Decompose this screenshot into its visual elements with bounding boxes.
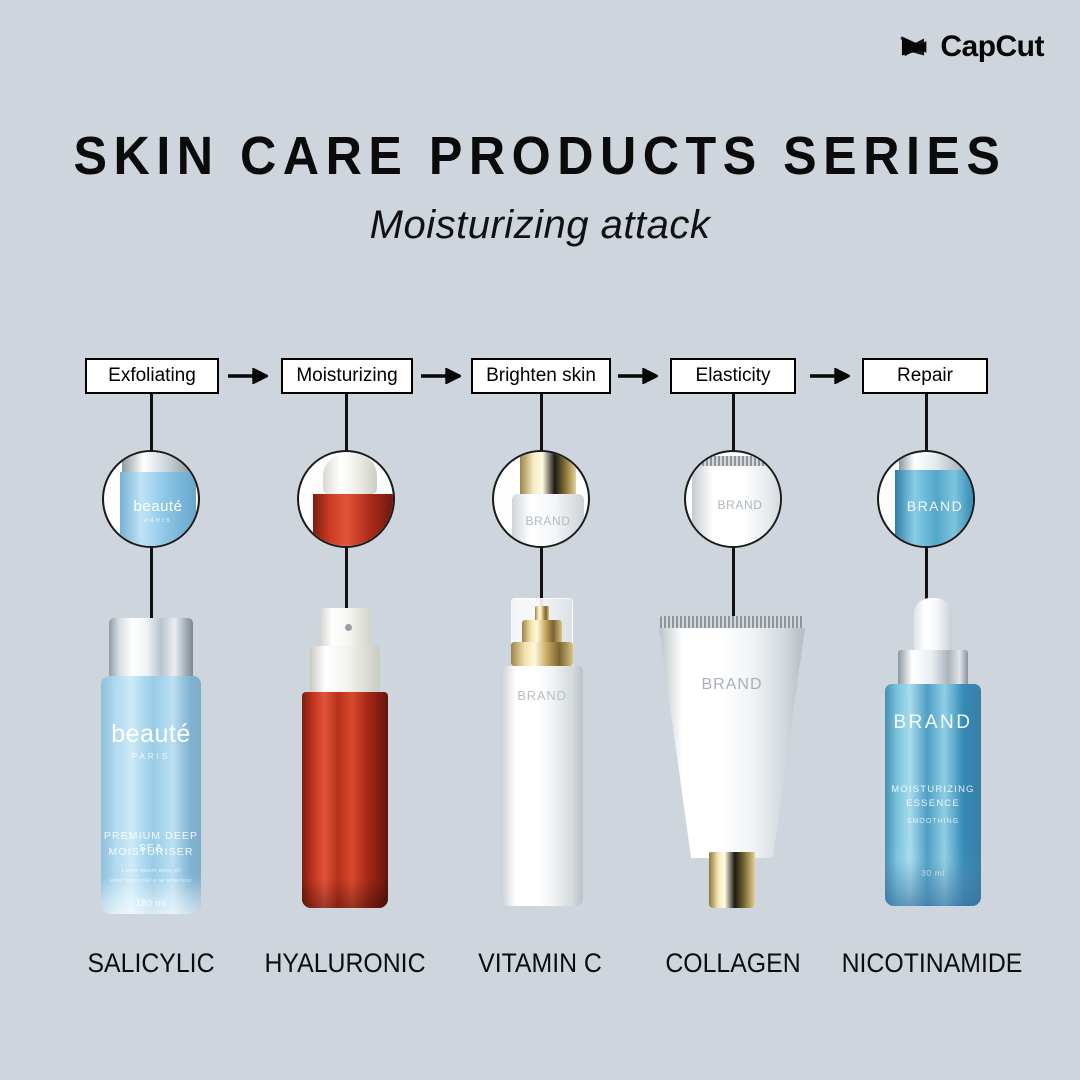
product-body: BRAND: [659, 628, 805, 858]
flow-step-label: Elasticity: [696, 365, 771, 387]
product-fine-line-1: Lorem ipsum dolor sit: [101, 868, 201, 874]
flow-step-label: Repair: [897, 365, 953, 387]
product-name-collagen: COLLAGEN: [647, 948, 818, 979]
flow-step-elasticity[interactable]: Elasticity: [670, 358, 796, 394]
callout-gold-pump: [520, 450, 576, 494]
callout-cap: [323, 454, 377, 494]
flow-step-label: Brighten skin: [486, 365, 596, 387]
product-name-salicylic: SALICYLIC: [67, 948, 234, 979]
connector-line-2-lower: [345, 548, 348, 610]
callout-content: BRAND: [686, 452, 780, 546]
product-brand: BRAND: [501, 688, 583, 703]
product-body: beauté PARIS PREMIUM DEEP SEA MOISTURISE…: [101, 676, 201, 914]
connector-line-1: [150, 394, 153, 452]
callout-brand-label: BRAND: [692, 498, 782, 512]
flow-step-brighten-skin[interactable]: Brighten skin: [471, 358, 611, 394]
page-title: SKIN CARE PRODUCTS SERIES: [38, 125, 1042, 187]
product-brand-sub: PARIS: [101, 752, 201, 761]
flow-step-label: Exfoliating: [108, 365, 196, 387]
nozzle-hole-icon: [345, 624, 352, 631]
product-volume: 180 ml: [101, 898, 201, 908]
product-brand: BRAND: [885, 712, 981, 734]
callout-body: BRAND: [512, 494, 584, 548]
connector-line-4-lower: [732, 548, 735, 616]
flow-step-moisturizing[interactable]: Moisturizing: [281, 358, 413, 394]
product-nozzle: [319, 608, 371, 648]
product-crimp: [660, 616, 804, 630]
flow-arrow-icon: [421, 368, 461, 384]
product-collagen[interactable]: BRAND: [650, 616, 814, 908]
product-fine-line-2: amet lacus nisl a ne amecteur: [101, 878, 201, 884]
flow-arrow-icon: [810, 368, 850, 384]
product-desc-line-2: ESSENCE: [885, 798, 981, 809]
product-brand: beauté: [101, 720, 201, 749]
product-body: [302, 692, 388, 908]
product-names-row: SALICYLIC HYALURONIC VITAMIN C COLLAGEN …: [0, 948, 1080, 988]
product-nicotinamide[interactable]: BRAND MOISTURIZING ESSENCE SMOOTHING 30 …: [872, 598, 994, 906]
callout-brand-label: BRAND: [895, 498, 975, 514]
connector-line-4: [732, 394, 735, 452]
callout-brand-label: beauté: [120, 498, 196, 515]
product-name-vitamin-c: VITAMIN C: [457, 948, 623, 979]
product-desc-line-1: MOISTURIZING: [885, 784, 981, 795]
callout-content: BRAND: [494, 452, 588, 546]
product-name-nicotinamide: NICOTINAMIDE: [840, 948, 1024, 979]
callout-body: BRAND: [692, 466, 782, 548]
capcut-watermark: CapCut: [896, 30, 1044, 64]
product-desc-line-1: PREMIUM DEEP SEA: [101, 830, 201, 854]
product-desc-line-3: SMOOTHING: [885, 818, 981, 825]
product-salicylic[interactable]: beauté PARIS PREMIUM DEEP SEA MOISTURISE…: [85, 618, 217, 918]
product-body: BRAND: [501, 666, 583, 906]
product-gold-cap: [709, 852, 755, 908]
callout-circle-hyaluronic: [297, 450, 395, 548]
callout-content: beauté PARIS: [104, 452, 198, 546]
callout-cap: [122, 450, 194, 474]
product-body: BRAND MOISTURIZING ESSENCE SMOOTHING 30 …: [885, 684, 981, 906]
callout-circle-collagen: BRAND: [684, 450, 782, 548]
product-volume: 30 ml: [885, 868, 981, 878]
product-hyaluronic[interactable]: [287, 608, 403, 908]
product-name-hyaluronic: HYALURONIC: [259, 948, 430, 979]
flow-step-repair[interactable]: Repair: [862, 358, 988, 394]
flow-arrow-icon: [618, 368, 658, 384]
callout-body: [313, 494, 393, 548]
callout-body: beauté PARIS: [120, 472, 196, 548]
flow-arrow-icon: [228, 368, 268, 384]
callout-circle-salicylic: beauté PARIS: [102, 450, 200, 548]
connector-line-5: [925, 394, 928, 452]
product-vitamin-c[interactable]: BRAND: [490, 598, 594, 906]
callout-content: [299, 452, 393, 546]
process-flow-row: Exfoliating Moisturizing Brighten skin E…: [0, 358, 1080, 398]
flow-step-exfoliating[interactable]: Exfoliating: [85, 358, 219, 394]
callout-circle-vitamin-c: BRAND: [492, 450, 590, 548]
callout-body: BRAND: [895, 470, 975, 548]
callout-crimp: [694, 456, 782, 466]
capcut-label: CapCut: [940, 30, 1044, 64]
callout-brand-sub: PARIS: [120, 518, 196, 524]
product-collar: [310, 646, 380, 694]
product-brand: BRAND: [659, 676, 805, 694]
connector-line-5-lower: [925, 548, 928, 603]
product-pump-collar: [511, 642, 573, 666]
flow-step-label: Moisturizing: [296, 365, 397, 387]
product-dropper-teat: [914, 598, 952, 654]
product-desc-line-2: MOISTURISER: [101, 846, 201, 858]
connector-line-2: [345, 394, 348, 452]
page-subtitle: Moisturizing attack: [0, 203, 1080, 248]
callout-content: BRAND: [879, 452, 973, 546]
product-dropper-collar: [898, 650, 968, 686]
callout-circle-nicotinamide: BRAND: [877, 450, 975, 548]
callout-brand-label: BRAND: [512, 514, 584, 528]
product-cap: [109, 618, 193, 680]
connector-line-3: [540, 394, 543, 452]
callout-ring: [899, 454, 969, 470]
capcut-logo-icon: [896, 30, 930, 64]
connector-line-1-lower: [150, 548, 153, 620]
